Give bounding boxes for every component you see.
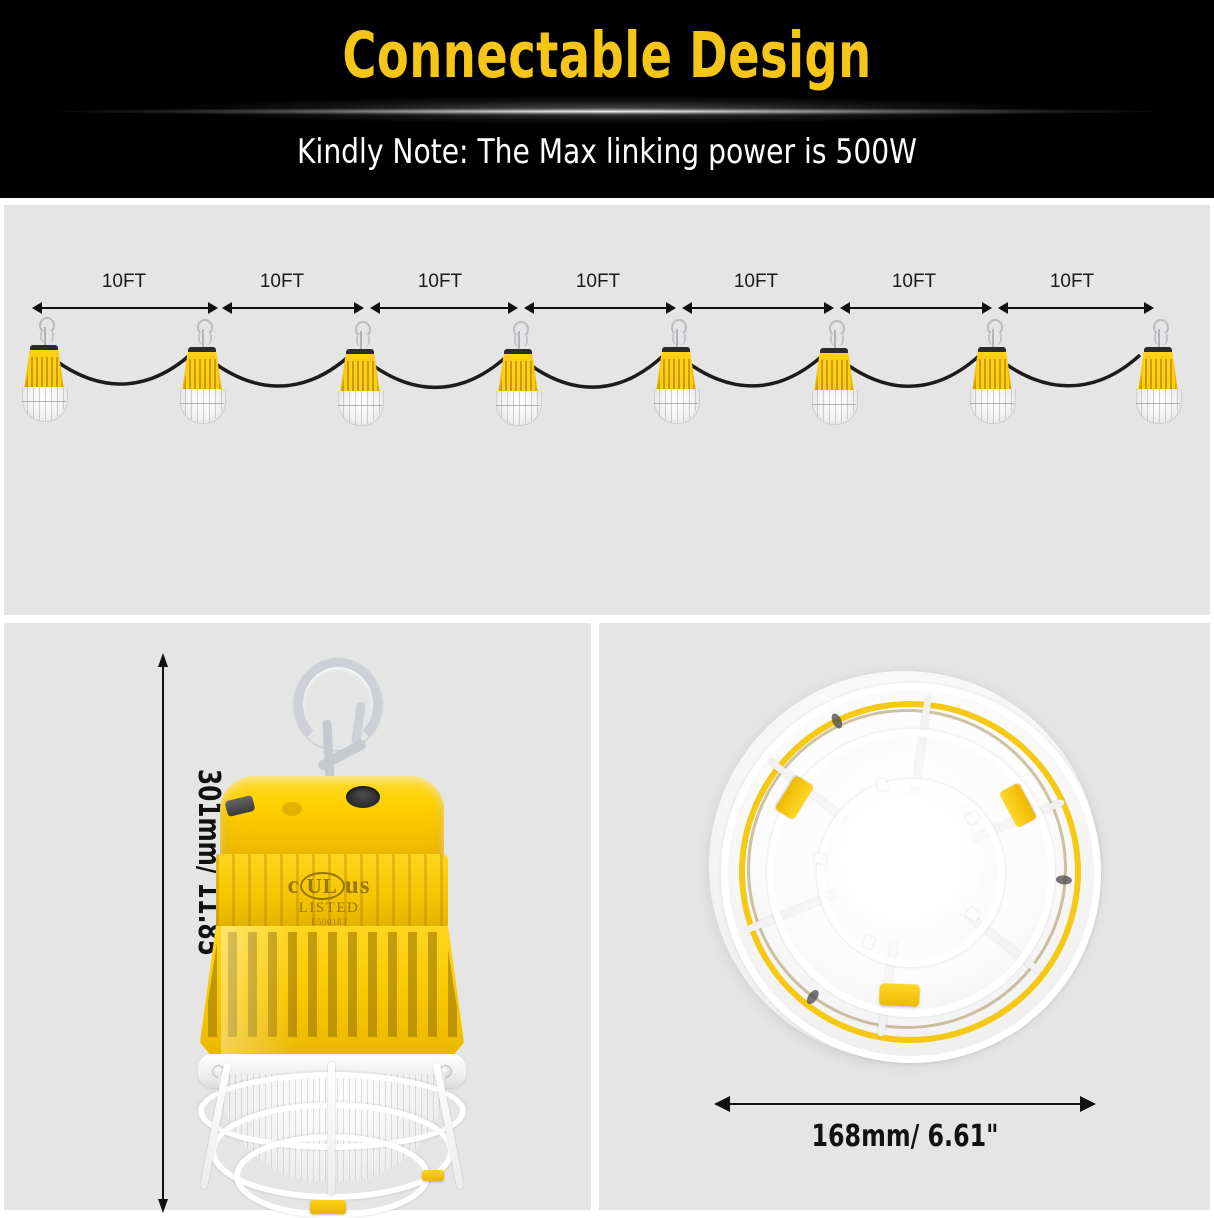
lamp-cage-band (180, 403, 224, 404)
string-fixture (802, 320, 866, 435)
ul-prefix: c (288, 872, 300, 899)
hook-icon (196, 319, 210, 349)
segment-label: 10FT (1012, 271, 1132, 293)
segment-label: 10FT (380, 271, 500, 293)
segment-arrow (32, 301, 218, 315)
hook-icon (670, 319, 684, 349)
hook-icon (986, 319, 1000, 349)
product-bottom-view (709, 671, 1099, 1061)
product-heatsink-fins (200, 926, 464, 1068)
ul-suffix: us (345, 872, 371, 899)
segment-arrow (682, 301, 834, 315)
lamp-fins (500, 361, 536, 391)
string-fixture (328, 321, 392, 436)
ul-certification-mark: cULus LISTED E500183 (264, 872, 394, 927)
ul-listed-text: LISTED (264, 900, 394, 917)
lamp-fins (658, 359, 694, 389)
width-dimension-arrow (714, 1096, 1096, 1112)
lamp-cage-band (338, 405, 382, 406)
segment-label: 10FT (64, 271, 184, 293)
lamp-cage-band (970, 403, 1014, 404)
segment-label: 10FT (696, 271, 816, 293)
lamp-fins (974, 359, 1010, 389)
cage-yellow-clip (422, 1170, 444, 1181)
width-dimension-label: 168mm/ 6.61" (737, 1119, 1073, 1155)
lamp-fins (26, 357, 62, 387)
cage-yellow-clip (310, 1200, 346, 1214)
product-guard-cage (194, 1062, 470, 1212)
lamp-cage-band (812, 404, 856, 405)
ring-nub (814, 853, 827, 864)
page-subtitle: Kindly Note: The Max linking power is 50… (49, 130, 1166, 174)
housing-clip (224, 795, 255, 817)
page-title: Connectable Design (109, 20, 1104, 92)
string-fixture (486, 321, 550, 436)
segment-arrow (370, 301, 518, 315)
lamp-cage-band (22, 401, 66, 402)
housing-dimple (282, 802, 302, 816)
bottom-light-core (831, 793, 977, 939)
header-banner: Connectable Design Kindly Note: The Max … (0, 0, 1214, 198)
hanging-hook-icon (280, 658, 380, 788)
lamp-cage-band (496, 405, 540, 406)
product-side-view: cULus LISTED E500183 (172, 658, 492, 1178)
lamp-fins (816, 360, 852, 390)
lamp-cage-band (654, 403, 698, 404)
height-dimension-arrow (158, 653, 168, 1213)
string-fixture (960, 319, 1024, 434)
ul-file-code: E500183 (264, 917, 394, 927)
lamp-fins (1140, 359, 1176, 389)
hook-icon (38, 317, 52, 347)
lamp-fins (184, 359, 220, 389)
segment-arrow (998, 301, 1154, 315)
segment-arrow (840, 301, 992, 315)
bottom-yellow-clip (879, 983, 920, 1006)
power-port (346, 786, 380, 808)
segment-arrow (222, 301, 364, 315)
string-fixture (12, 317, 76, 432)
segment-label: 10FT (222, 271, 342, 293)
hook-icon (828, 320, 842, 350)
hook-icon (1152, 319, 1166, 349)
product-infographic: Connectable Design Kindly Note: The Max … (0, 0, 1214, 1214)
segment-arrow (524, 301, 676, 315)
string-diagram: 10FT 10FT 10FT 10FT 10FT 10FT 10FT (4, 205, 1210, 615)
segment-label: 10FT (854, 271, 974, 293)
side-view-panel: 301mm/ 11.85" cULus LISTED E500183 (4, 623, 591, 1210)
bottom-view-panel: 168mm/ 6.61" (599, 623, 1210, 1210)
ul-logo: UL (300, 872, 345, 900)
segment-label: 10FT (538, 271, 658, 293)
lamp-cage-band (1136, 403, 1180, 404)
lamp-fins (342, 361, 378, 391)
string-fixture (170, 319, 234, 434)
string-fixture (1126, 319, 1190, 434)
header-glow-line (57, 108, 1157, 115)
hook-icon (354, 321, 368, 351)
string-fixture (644, 319, 708, 434)
string-light-panel: 10FT 10FT 10FT 10FT 10FT 10FT 10FT (4, 205, 1210, 615)
hook-icon (512, 321, 526, 351)
